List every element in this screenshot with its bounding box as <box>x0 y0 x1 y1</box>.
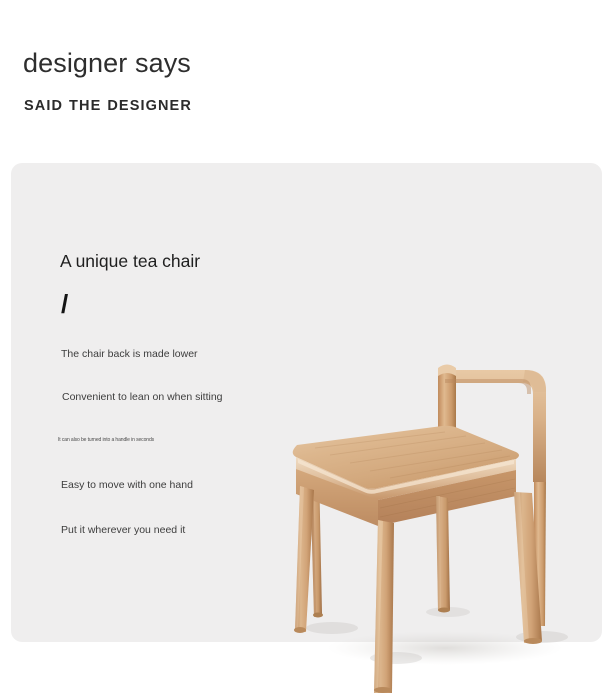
feature-item: Easy to move with one hand <box>61 480 193 491</box>
subtitle-word-3: DESIGNER <box>107 98 192 114</box>
product-heading: A unique tea chair <box>60 253 200 271</box>
feature-item: The chair back is made lower <box>61 349 198 360</box>
subtitle-word-2: THE <box>69 98 101 114</box>
wooden-tea-chair-photo <box>270 360 614 693</box>
slash-divider: / <box>61 291 68 317</box>
page-subtitle: SAIDTHEDESIGNER <box>24 99 192 114</box>
feature-copy-block: A unique tea chair / The chair back is m… <box>11 163 311 642</box>
feature-item: Put it wherever you need it <box>61 525 185 536</box>
feature-item: It can also be turned into a handle in s… <box>58 438 154 443</box>
subtitle-word-1: SAID <box>24 98 63 114</box>
feature-item: Convenient to lean on when sitting <box>62 392 223 403</box>
page-title: designer says <box>23 50 191 77</box>
